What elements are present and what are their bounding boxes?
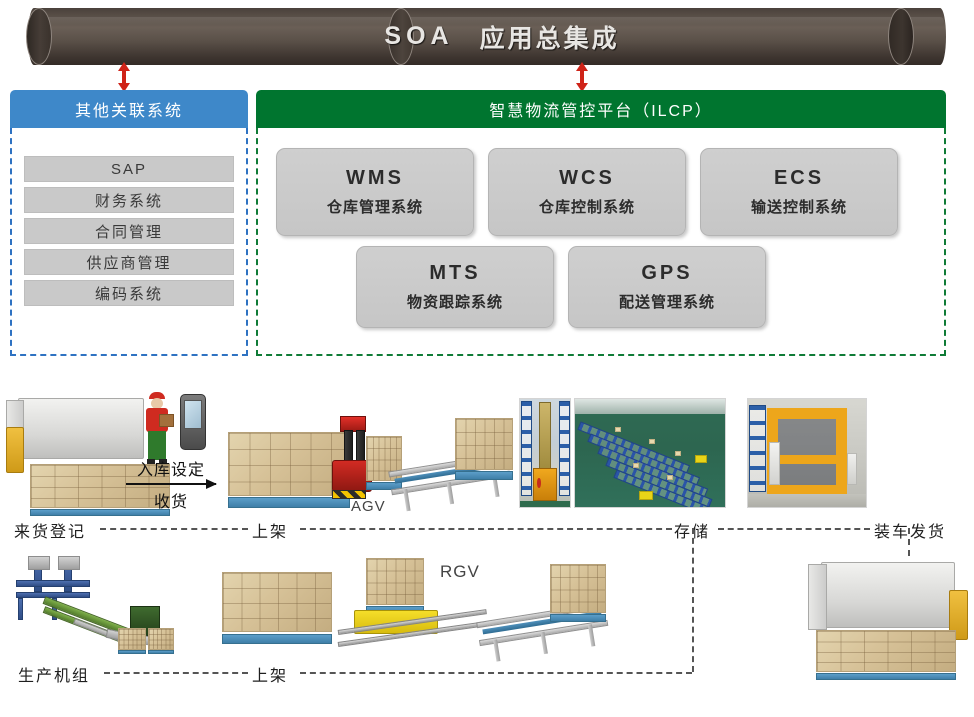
photo-yellow-unit	[639, 491, 653, 500]
pallet-cartons	[118, 628, 146, 650]
pallet-base	[222, 634, 332, 644]
photo-rack-blue	[749, 405, 766, 491]
photo-warehouse-racking	[574, 398, 726, 508]
conveyor-pallet-bottom	[550, 564, 606, 622]
dash-connector-3	[718, 528, 870, 530]
trailer-box	[18, 398, 144, 459]
photo-control-panel	[769, 442, 780, 485]
photo-side-panel	[847, 453, 856, 485]
trailer-box	[821, 562, 955, 628]
module-name: 仓库管理系统	[327, 196, 423, 217]
sys-bar-label: 供应商管理	[86, 252, 171, 273]
prodline-pallet	[148, 628, 174, 654]
dash-connector-4	[104, 672, 248, 674]
pallet-cartons	[816, 630, 956, 672]
photo-yellow-unit	[695, 455, 707, 463]
photo-ceiling	[575, 399, 725, 414]
process-arrow-line-icon	[126, 483, 216, 485]
handheld-scanner-illustration	[180, 394, 206, 450]
photo-tote	[675, 451, 681, 456]
other-systems-title: 其他关联系统	[75, 97, 183, 121]
module-card-wcs[interactable]: WCS 仓库控制系统	[488, 148, 686, 236]
pallet-base	[118, 650, 146, 654]
flow-label-inbound-registration: 来货登记	[14, 518, 86, 542]
pallet-cartons	[148, 628, 174, 650]
trailer-forklift	[6, 427, 24, 473]
prodline-hopper	[58, 556, 80, 570]
sys-bar-supplier[interactable]: 供应商管理	[24, 249, 234, 275]
prodline-rail	[16, 580, 90, 587]
photo-rack-left	[521, 401, 532, 496]
process-arrow-receiving: 入库设定 收货	[126, 456, 216, 512]
photo-tote	[633, 463, 639, 468]
sys-bar-label: 合同管理	[95, 221, 163, 242]
other-systems-header: 其他关联系统	[10, 90, 248, 128]
ilcp-title: 智慧物流管控平台（ILCP）	[489, 97, 713, 121]
other-systems-body: SAP 财务系统 合同管理 供应商管理 编码系统	[10, 128, 248, 356]
rgv-carried-pallet	[366, 558, 424, 614]
flow-label-putaway-top: 上架	[252, 518, 288, 542]
red-double-arrow-right-icon	[575, 62, 589, 92]
conveyor-pallet-top	[455, 418, 513, 480]
module-name: 输送控制系统	[751, 196, 847, 217]
ilcp-body: WMS 仓库管理系统 WCS 仓库控制系统 ECS 输送控制系统 MTS 物资跟…	[256, 128, 946, 356]
soa-banner: SOA 应用总集成	[28, 8, 946, 65]
pallet-cartons	[366, 558, 424, 605]
dash-connector-vertical-shipping	[908, 528, 910, 556]
soa-banner-label: SOA 应用总集成	[28, 8, 946, 65]
sys-bar-contract[interactable]: 合同管理	[24, 218, 234, 244]
photo-tote	[649, 439, 655, 444]
module-card-wms[interactable]: WMS 仓库管理系统	[276, 148, 474, 236]
module-card-ecs[interactable]: ECS 输送控制系统	[700, 148, 898, 236]
other-systems-list: SAP 财务系统 合同管理 供应商管理 编码系统	[24, 156, 234, 306]
pallet-base	[148, 650, 174, 654]
module-code: ECS	[774, 167, 824, 190]
soa-banner-label-cn: 应用总集成	[480, 19, 620, 55]
logistics-flow-area: 入库设定 收货 AGV	[0, 380, 974, 717]
dash-connector-5	[300, 672, 692, 674]
module-name: 物资跟踪系统	[407, 291, 503, 312]
sys-bar-coding[interactable]: 编码系统	[24, 280, 234, 306]
putaway-pallet-stack-bottom	[222, 572, 332, 644]
trailer-door	[808, 564, 827, 630]
module-card-gps[interactable]: GPS 配送管理系统	[568, 246, 766, 328]
photo-tote	[667, 475, 673, 480]
pallet-cartons	[455, 418, 513, 470]
prodline-pallet	[118, 628, 146, 654]
prodline-hopper	[28, 556, 50, 570]
module-name: 仓库控制系统	[539, 196, 635, 217]
photo-floor	[520, 501, 570, 507]
worker-illustration	[143, 392, 177, 466]
flow-label-production-unit: 生产机组	[18, 662, 90, 686]
sys-bar-finance[interactable]: 财务系统	[24, 187, 234, 213]
outbound-pallet-stack	[816, 630, 956, 680]
dash-connector-vertical-storage	[692, 528, 694, 672]
production-line-illustration	[10, 556, 190, 666]
rgv-caption: RGV	[440, 562, 480, 582]
module-card-mts[interactable]: MTS 物资跟踪系统	[356, 246, 554, 328]
pallet-base	[455, 471, 513, 480]
sys-bar-sap[interactable]: SAP	[24, 156, 234, 182]
module-code: MTS	[429, 262, 480, 285]
soa-banner-label-en: SOA	[384, 22, 453, 51]
pallet-base	[550, 614, 606, 622]
photo-rack-right	[559, 401, 570, 496]
prodline-leg	[18, 598, 23, 620]
pallet-base	[816, 673, 956, 680]
dash-connector-2	[300, 528, 672, 530]
sys-bar-label: 财务系统	[95, 190, 163, 211]
sys-bar-label: 编码系统	[95, 283, 163, 304]
photo-stacker-crane	[519, 398, 571, 508]
red-double-arrow-left-icon	[117, 62, 131, 92]
module-name: 配送管理系统	[619, 291, 715, 312]
ilcp-header: 智慧物流管控平台（ILCP）	[256, 90, 946, 128]
module-code: GPS	[641, 262, 692, 285]
photo-crane-light	[537, 478, 541, 488]
photo-tote	[615, 427, 621, 432]
agv-caption: AGV	[351, 498, 386, 515]
scanner-screen	[184, 400, 203, 429]
module-code: WCS	[559, 167, 615, 190]
sys-bar-label: SAP	[111, 161, 147, 178]
flow-label-putaway-bottom: 上架	[252, 662, 288, 686]
worker-carton	[159, 414, 174, 427]
module-code: WMS	[346, 167, 404, 190]
photo-floor	[748, 494, 866, 507]
photo-shuttle-machine	[747, 398, 867, 508]
pallet-cartons	[550, 564, 606, 613]
photo-crane-mast	[539, 402, 551, 469]
process-arrow-label-above: 入库设定	[126, 456, 216, 480]
dash-connector-1	[100, 528, 248, 530]
pallet-cartons	[222, 572, 332, 632]
process-arrow-label-below: 收货	[126, 488, 216, 512]
flow-label-loading-shipping: 装车发货	[874, 518, 946, 542]
